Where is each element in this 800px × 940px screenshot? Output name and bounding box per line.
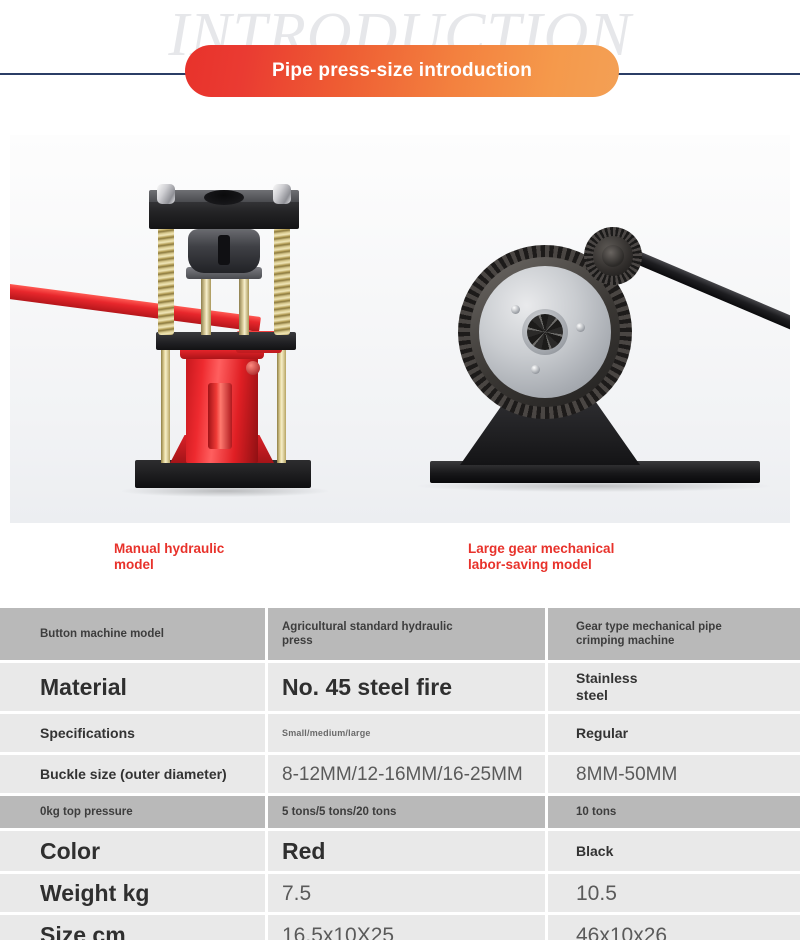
row-label: Material [40, 674, 127, 700]
row-value-hydraulic: Small/medium/large [265, 714, 545, 752]
row-value-gear: 46x10x26 [545, 915, 800, 940]
press-cap-nut-right [273, 184, 291, 204]
cell-value: No. 45 steel fire [282, 674, 452, 700]
page-title: Pipe press-size introduction [272, 60, 532, 82]
press-red-handle [10, 282, 261, 332]
cell-value: Small/medium/large [282, 727, 371, 739]
press-ram-pillar-b [239, 277, 249, 335]
crimper-pinion-cap [602, 245, 624, 267]
cell-value: Stainless steel [576, 670, 637, 704]
table-header-cell-model: Button machine model [0, 608, 265, 660]
column-header-label: Gear type mechanical pipe crimping machi… [576, 620, 722, 648]
crimper-screw-1 [511, 305, 520, 314]
press-return-spring-left [158, 227, 174, 335]
column-header-label: Button machine model [40, 627, 164, 641]
row-label-cell: Weight kg [0, 874, 265, 912]
row-value-gear: Black [545, 831, 800, 871]
press-guide-rod-left [161, 331, 170, 463]
cell-value: 8MM-50MM [576, 763, 677, 786]
row-value-hydraulic: Red [265, 831, 545, 871]
crimper-die-petals [527, 314, 563, 350]
cell-value: 46x10x26 [576, 923, 667, 940]
press-release-knob [246, 361, 260, 375]
specification-table: Button machine model Agricultural standa… [0, 608, 800, 940]
column-header-label: Agricultural standard hydraulic press [282, 620, 453, 648]
row-value-hydraulic: 16.5x10X25 [265, 915, 545, 940]
row-label: Specifications [40, 725, 135, 742]
row-label: Buckle size (outer diameter) [40, 766, 227, 783]
row-value-hydraulic: 5 tons/5 tons/20 tons [265, 796, 545, 828]
press-return-spring-right [274, 227, 290, 335]
row-label: Size cm [40, 922, 126, 940]
row-label-cell: Color [0, 831, 265, 871]
section-title-pill: Pipe press-size introduction [185, 45, 619, 97]
cell-value: 8-12MM/12-16MM/16-25MM [282, 763, 523, 786]
cell-value: 10.5 [576, 881, 617, 906]
row-label: Color [40, 838, 100, 864]
table-row: Buckle size (outer diameter) 8-12MM/12-1… [0, 755, 800, 793]
row-value-gear: Stainless steel [545, 663, 800, 711]
press-die-notch [218, 235, 230, 265]
caption-gear-mechanical: Large gear mechanical labor-saving model [468, 541, 688, 573]
page-header: INTRODUCTION Pipe press-size introductio… [0, 0, 800, 120]
product-detail-page: INTRODUCTION Pipe press-size introductio… [0, 0, 800, 940]
table-header-cell-gear: Gear type mechanical pipe crimping machi… [545, 608, 800, 660]
row-label: Weight kg [40, 880, 149, 906]
press-jack-cylinder [208, 383, 232, 449]
row-label-cell: Buckle size (outer diameter) [0, 755, 265, 793]
row-label-cell: 0kg top pressure [0, 796, 265, 828]
press-top-plate-hole [204, 190, 244, 205]
row-value-hydraulic: 7.5 [265, 874, 545, 912]
table-header-cell-hydraulic: Agricultural standard hydraulic press [265, 608, 545, 660]
row-label: 0kg top pressure [40, 805, 133, 819]
product-photo-manual-hydraulic [10, 135, 400, 523]
caption-manual-hydraulic: Manual hydraulic model [114, 541, 314, 573]
row-value-gear: 8MM-50MM [545, 755, 800, 793]
product-photo-gear-crimper [400, 135, 790, 523]
cell-value: 7.5 [282, 881, 311, 906]
table-row: Material No. 45 steel fire Stainless ste… [0, 663, 800, 711]
crimper-lever-arm [625, 248, 790, 342]
cell-value: Red [282, 838, 325, 864]
crimper-screw-3 [531, 365, 540, 374]
table-header-row: Button machine model Agricultural standa… [0, 608, 800, 660]
row-value-hydraulic: No. 45 steel fire [265, 663, 545, 711]
row-label-cell: Material [0, 663, 265, 711]
table-row: 0kg top pressure 5 tons/5 tons/20 tons 1… [0, 796, 800, 828]
press-ram-pillar-a [201, 277, 211, 335]
cell-value: 16.5x10X25 [282, 923, 394, 940]
crimper-screw-2 [576, 323, 585, 332]
row-value-gear: Regular [545, 714, 800, 752]
cell-value: Regular [576, 725, 628, 742]
table-row: Size cm 16.5x10X25 46x10x26 [0, 915, 800, 940]
row-label-cell: Size cm [0, 915, 265, 940]
row-value-gear: 10.5 [545, 874, 800, 912]
row-value-gear: 10 tons [545, 796, 800, 828]
cell-value: Black [576, 843, 613, 860]
cell-value: 5 tons/5 tons/20 tons [282, 805, 396, 819]
table-row: Color Red Black [0, 831, 800, 871]
product-photo-strip [10, 135, 790, 523]
table-row: Weight kg 7.5 10.5 [0, 874, 800, 912]
row-label-cell: Specifications [0, 714, 265, 752]
press-base-plate [135, 460, 311, 488]
table-row: Specifications Small/medium/large Regula… [0, 714, 800, 752]
press-cap-nut-left [157, 184, 175, 204]
row-value-hydraulic: 8-12MM/12-16MM/16-25MM [265, 755, 545, 793]
cell-value: 10 tons [576, 805, 616, 819]
